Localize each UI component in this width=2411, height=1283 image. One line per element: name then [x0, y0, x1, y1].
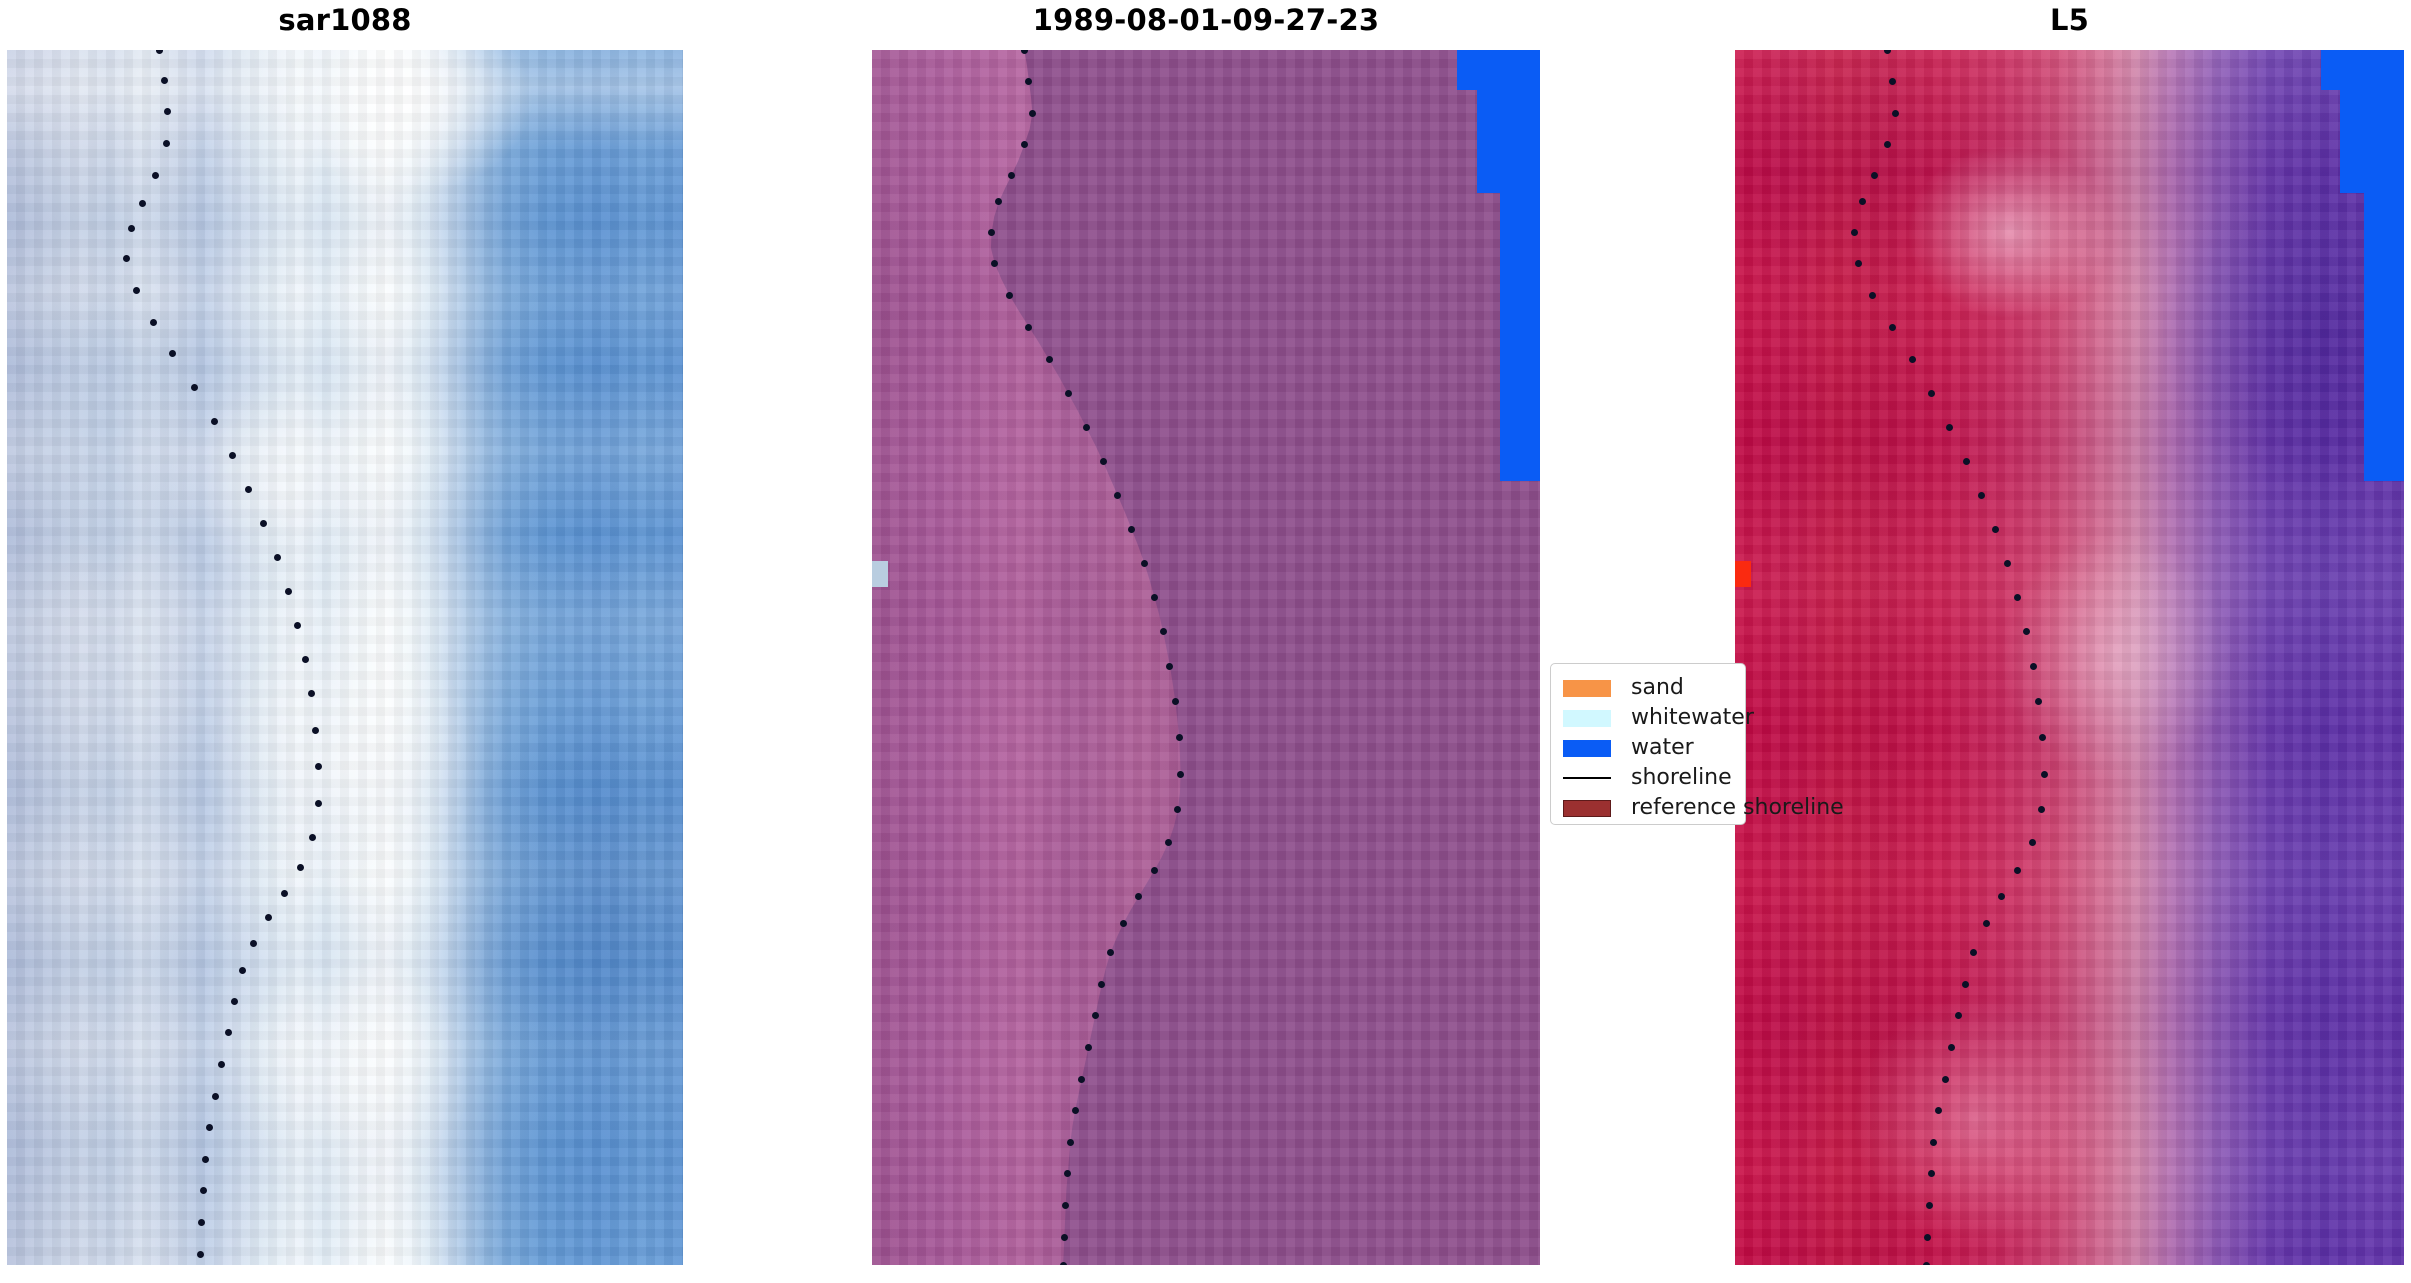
shoreline-dot	[315, 763, 322, 770]
legend-item-sand[interactable]: sand	[1563, 673, 1735, 703]
axes-l5[interactable]	[1735, 50, 2404, 1265]
shoreline-dot	[161, 77, 168, 84]
shoreline-dot	[123, 255, 130, 262]
shoreline-dot	[1008, 172, 1015, 179]
shoreline-dot	[2023, 628, 2030, 635]
shoreline-dot	[245, 486, 252, 493]
shoreline-dot	[1892, 110, 1899, 117]
shoreline-dot	[1107, 949, 1114, 956]
shoreline-dot	[1884, 141, 1891, 148]
axes-sar[interactable]	[7, 50, 683, 1265]
shoreline-dot	[1924, 1234, 1931, 1241]
shoreline-dot	[1029, 110, 1036, 117]
shoreline-dot	[1955, 1012, 1962, 1019]
shoreline-dot	[315, 800, 322, 807]
shoreline-dot	[1151, 867, 1158, 874]
shoreline-dot	[156, 50, 163, 54]
shoreline-dot	[2039, 734, 2046, 741]
shoreline-dot	[1923, 1262, 1930, 1266]
shoreline-dot	[1128, 526, 1135, 533]
shoreline-dot	[139, 200, 146, 207]
shoreline-dot	[309, 834, 316, 841]
shoreline-dot	[2030, 663, 2037, 670]
panel-title-sar: sar1088	[7, 0, 683, 40]
shoreline-dot	[988, 229, 995, 236]
shoreline-dot	[1928, 1170, 1935, 1177]
legend-swatch-shoreline-icon	[1563, 777, 1611, 779]
shoreline-dot	[1025, 78, 1032, 85]
legend-swatch-whitewater-icon	[1563, 710, 1611, 727]
shoreline-dot	[225, 1029, 232, 1036]
shoreline-dot	[150, 319, 157, 326]
shoreline-dot	[1869, 292, 1876, 299]
shoreline-dot	[1151, 594, 1158, 601]
shoreline-dot	[1174, 806, 1181, 813]
panel-classified: 1989-08-01-09-27-23	[872, 0, 1540, 1283]
shoreline-dot	[1909, 356, 1916, 363]
shoreline-dot	[1963, 458, 1970, 465]
shoreline-dot	[1067, 1139, 1074, 1146]
shoreline-dot	[2038, 806, 2045, 813]
shoreline-dot	[1970, 949, 1977, 956]
shoreline-dot	[1928, 390, 1935, 397]
shoreline-dot	[1855, 260, 1862, 267]
shoreline-dot	[1060, 1262, 1067, 1266]
panel-sar: sar1088	[7, 0, 683, 1283]
shoreline-dot	[128, 225, 135, 232]
shoreline-dot	[260, 520, 267, 527]
shoreline-dot	[1172, 698, 1179, 705]
shoreline-dot	[239, 967, 246, 974]
shoreline-dot	[281, 890, 288, 897]
shoreline-dot	[1926, 1202, 1933, 1209]
shoreline-dot	[2014, 594, 2021, 601]
shoreline-dot	[1065, 390, 1072, 397]
legend-swatch-sand-icon	[1563, 680, 1611, 697]
shoreline-dot	[1062, 1202, 1069, 1209]
shoreline-dot	[1025, 324, 1032, 331]
shoreline-dot	[1884, 50, 1891, 54]
shoreline-dot	[1141, 560, 1148, 567]
shoreline-dot	[212, 1093, 219, 1100]
shoreline-dot	[1092, 1012, 1099, 1019]
shoreline-dot	[1166, 663, 1173, 670]
shoreline-dot	[211, 418, 218, 425]
shoreline-dot	[1998, 893, 2005, 900]
shoreline-dot	[2041, 771, 2048, 778]
legend-item-reference[interactable]: reference shoreline	[1563, 793, 1735, 823]
shoreline-dot	[1978, 492, 1985, 499]
shoreline-dot	[1021, 50, 1028, 54]
shoreline-dot	[265, 914, 272, 921]
shoreline-dot	[2035, 698, 2042, 705]
shoreline-dot	[231, 998, 238, 1005]
shoreline-overlay-classified	[872, 50, 1540, 1265]
shoreline-dot	[294, 622, 301, 629]
shoreline-dot	[2004, 560, 2011, 567]
panel-title-l5: L5	[1735, 0, 2404, 40]
shoreline-overlay-l5	[1735, 50, 2404, 1265]
shoreline-dot	[1114, 492, 1121, 499]
legend-label: sand	[1631, 677, 1684, 699]
shoreline-overlay-sar	[7, 50, 683, 1265]
shoreline-dot	[1930, 1139, 1937, 1146]
shoreline-dot	[274, 554, 281, 561]
shoreline-dot	[1946, 424, 1953, 431]
shoreline-dot	[1948, 1044, 1955, 1051]
shoreline-dot	[1064, 1170, 1071, 1177]
shoreline-dot	[312, 727, 319, 734]
shoreline-dot	[197, 1251, 204, 1258]
legend-label: shoreline	[1631, 767, 1732, 789]
shoreline-dot	[1078, 1076, 1085, 1083]
shoreline-dot	[1083, 424, 1090, 431]
shoreline-dot	[1851, 229, 1858, 236]
figure-canvas: sar1088 1989-08-01-09-27-23 L5	[0, 0, 2411, 1283]
shoreline-dot	[2014, 867, 2021, 874]
shoreline-dot	[1046, 356, 1053, 363]
shoreline-dot	[1100, 458, 1107, 465]
legend-label: whitewater	[1631, 707, 1754, 729]
axes-classified[interactable]	[872, 50, 1540, 1265]
shoreline-dot	[297, 864, 304, 871]
shoreline-dot	[1098, 981, 1105, 988]
shoreline-dot	[1859, 198, 1866, 205]
legend-box[interactable]: sandwhitewaterwatershorelinereference sh…	[1550, 663, 1746, 825]
shoreline-dot	[1135, 893, 1142, 900]
panel-title-classified: 1989-08-01-09-27-23	[872, 0, 1540, 40]
legend-item-water[interactable]: water	[1563, 733, 1735, 763]
legend-item-shoreline[interactable]: shoreline	[1563, 763, 1735, 793]
shoreline-dot	[1889, 78, 1896, 85]
shoreline-dot	[1176, 734, 1183, 741]
shoreline-dot	[133, 287, 140, 294]
shoreline-dot	[229, 452, 236, 459]
shoreline-dot	[1935, 1107, 1942, 1114]
legend-label: water	[1631, 737, 1694, 759]
shoreline-dot	[1983, 920, 1990, 927]
legend-label: reference shoreline	[1631, 797, 1844, 819]
shoreline-dot	[200, 1187, 207, 1194]
shoreline-dot	[1021, 141, 1028, 148]
shoreline-dot	[1120, 920, 1127, 927]
shoreline-dot	[1962, 981, 1969, 988]
shoreline-dot	[308, 690, 315, 697]
shoreline-dot	[1006, 292, 1013, 299]
shoreline-dot	[1165, 839, 1172, 846]
shoreline-dot	[1889, 324, 1896, 331]
shoreline-dot	[991, 260, 998, 267]
shoreline-dot	[191, 384, 198, 391]
shoreline-dot	[2029, 839, 2036, 846]
shoreline-dot	[198, 1219, 205, 1226]
shoreline-dot	[164, 108, 171, 115]
shoreline-dot	[250, 940, 257, 947]
shoreline-dot	[1177, 771, 1184, 778]
legend-swatch-reference-icon	[1563, 800, 1611, 817]
shoreline-dot	[202, 1156, 209, 1163]
shoreline-dot	[302, 656, 309, 663]
shoreline-dot	[206, 1124, 213, 1131]
shoreline-dot	[1061, 1234, 1068, 1241]
shoreline-dot	[995, 198, 1002, 205]
shoreline-dot	[1942, 1076, 1949, 1083]
shoreline-dot	[152, 172, 159, 179]
panel-l5: L5	[1735, 0, 2404, 1283]
shoreline-dot	[1871, 172, 1878, 179]
shoreline-dot	[163, 140, 170, 147]
shoreline-dot	[1160, 628, 1167, 635]
shoreline-dot	[1072, 1107, 1079, 1114]
shoreline-dot	[285, 588, 292, 595]
shoreline-dot	[1992, 526, 1999, 533]
shoreline-dot	[1085, 1044, 1092, 1051]
shoreline-dot	[169, 350, 176, 357]
legend-swatch-water-icon	[1563, 740, 1611, 757]
shoreline-dot	[218, 1061, 225, 1068]
legend-item-whitewater[interactable]: whitewater	[1563, 703, 1735, 733]
